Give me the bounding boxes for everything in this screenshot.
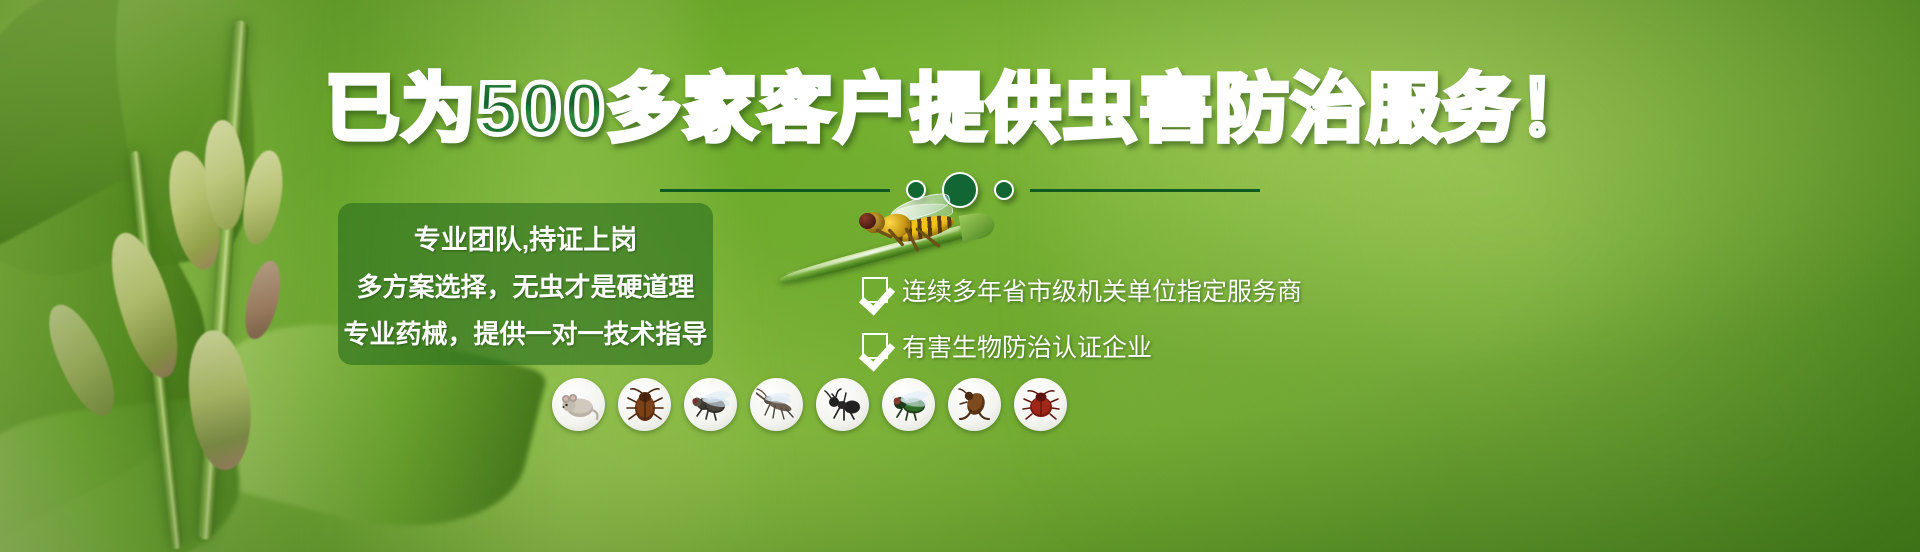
flea-icon[interactable] — [948, 378, 1001, 431]
checkbox-checked-icon — [862, 277, 888, 303]
highlight-line-3: 专业药械，提供一对一技术指导 — [344, 314, 708, 351]
housefly-icon[interactable] — [684, 378, 737, 431]
page-title: 已为500多家客户提供虫害防治服务！ — [0, 72, 1920, 146]
list-item-label: 有害生物防治认证企业 — [902, 328, 1152, 364]
checkbox-checked-icon — [862, 333, 888, 359]
highlight-line-2: 多方案选择，无虫才是硬道理 — [356, 267, 694, 304]
ant-icon[interactable] — [816, 378, 869, 431]
bedbug-icon[interactable] — [1014, 378, 1067, 431]
pest-icon-row — [552, 378, 1067, 431]
divider-line-right — [1030, 189, 1260, 192]
mosquito-icon[interactable] — [750, 378, 803, 431]
blowfly-icon[interactable] — [882, 378, 935, 431]
list-item: 连续多年省市级机关单位指定服务商 — [862, 272, 1302, 308]
divider-line-left — [660, 189, 890, 192]
highlights-panel: 专业团队,持证上岗 多方案选择，无虫才是硬道理 专业药械，提供一对一技术指导 — [338, 203, 713, 365]
rodent-icon[interactable] — [552, 378, 605, 431]
certification-list: 连续多年省市级机关单位指定服务商 有害生物防治认证企业 — [862, 272, 1302, 364]
divider-dot-small-right — [994, 180, 1014, 200]
cockroach-icon[interactable] — [618, 378, 671, 431]
promo-banner: 已为500多家客户提供虫害防治服务！ 专业团队,持证上岗 多方案选择，无虫才是硬… — [0, 0, 1920, 552]
highlight-line-1: 专业团队,持证上岗 — [414, 218, 638, 257]
hoverfly-photo — [855, 200, 965, 258]
list-item-label: 连续多年省市级机关单位指定服务商 — [902, 272, 1302, 308]
list-item: 有害生物防治认证企业 — [862, 328, 1302, 364]
